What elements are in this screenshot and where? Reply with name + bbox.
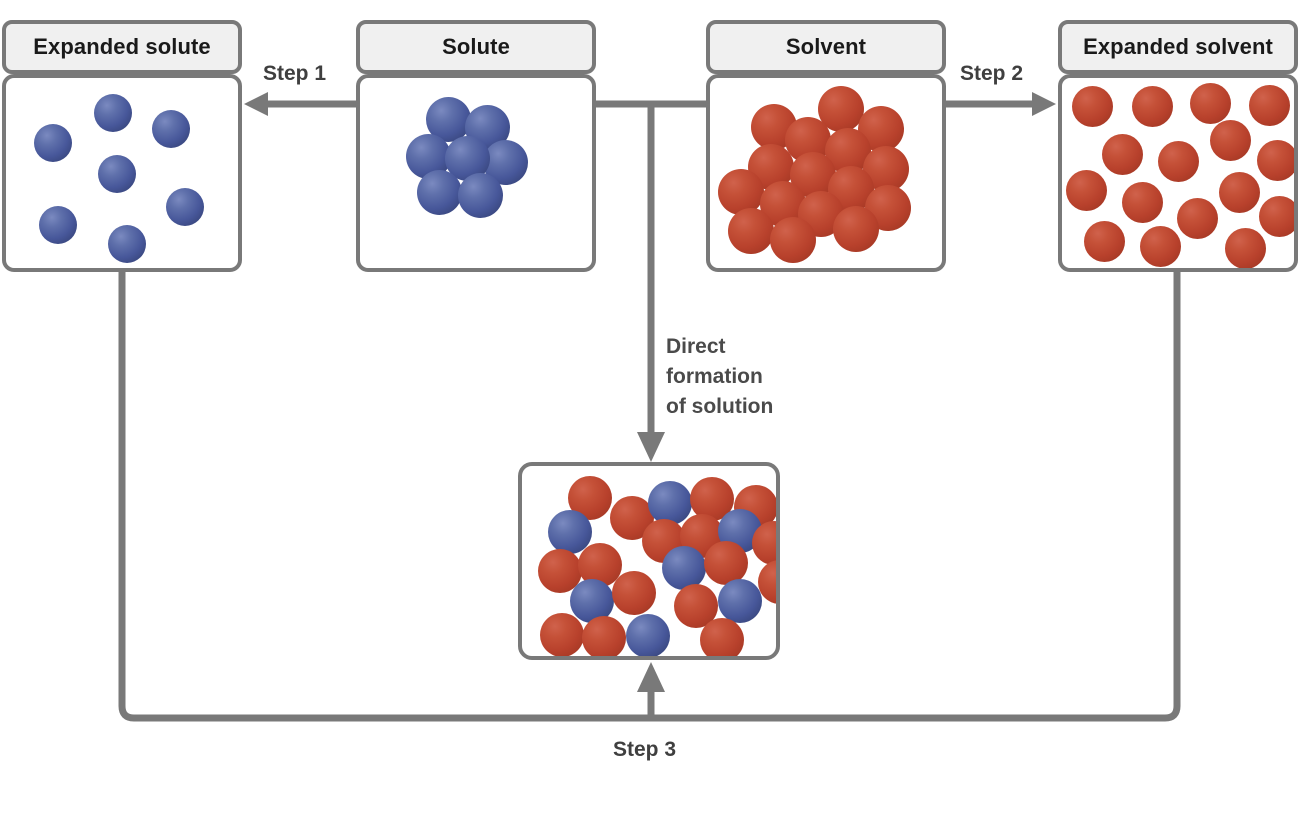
solute-particle — [152, 110, 190, 148]
box-title-expanded-solute: Expanded solute — [33, 34, 211, 60]
solute-particle — [417, 170, 462, 215]
box-solvent — [706, 74, 946, 272]
box-expanded-solvent — [1058, 74, 1298, 272]
particle-field-solution — [522, 466, 776, 656]
box-header-solute: Solute — [356, 20, 596, 74]
box-title-solvent: Solvent — [786, 34, 866, 60]
solvent-particle — [1190, 83, 1231, 124]
solvent-particle — [1072, 86, 1113, 127]
solvent-particle — [540, 613, 584, 656]
particle-field-solvent — [710, 78, 942, 268]
box-title-expanded-solvent: Expanded solvent — [1083, 34, 1273, 60]
solvent-particle — [1259, 196, 1294, 237]
solute-particle — [98, 155, 136, 193]
solvent-particle — [1219, 172, 1260, 213]
solvent-particle — [1122, 182, 1163, 223]
step1-arrow — [244, 92, 356, 116]
particle-field-expanded-solvent — [1062, 78, 1294, 268]
box-header-solvent: Solvent — [706, 20, 946, 74]
solvent-particle — [833, 206, 879, 252]
box-solution — [518, 462, 780, 660]
solvent-particle — [1249, 85, 1290, 126]
solute-particle — [108, 225, 146, 263]
solvent-particle — [770, 217, 816, 263]
box-solute — [356, 74, 596, 272]
solute-particle — [166, 188, 204, 226]
particle-field-solute — [360, 78, 592, 268]
solvent-particle — [1132, 86, 1173, 127]
solvent-particle — [1140, 226, 1181, 267]
solvent-particle — [1225, 228, 1266, 268]
solvent-particle — [612, 571, 656, 615]
solute-particle — [648, 481, 692, 525]
step1-label: Step 1 — [263, 62, 326, 86]
particle-field-expanded-solute — [6, 78, 238, 268]
solute-particle — [94, 94, 132, 132]
solvent-particle — [1257, 140, 1294, 181]
solution-formation-diagram: Expanded solute Solute Solvent — [0, 0, 1300, 836]
solute-particle — [34, 124, 72, 162]
solute-particle — [39, 206, 77, 244]
solvent-particle — [582, 616, 626, 656]
solvent-particle — [1084, 221, 1125, 262]
box-header-expanded-solute: Expanded solute — [2, 20, 242, 74]
box-expanded-solute — [2, 74, 242, 272]
step2-label: Step 2 — [960, 62, 1023, 86]
box-header-expanded-solvent: Expanded solvent — [1058, 20, 1298, 74]
solvent-particle — [1177, 198, 1218, 239]
solvent-particle — [728, 208, 774, 254]
direct-formation-label: Direct formation of solution — [666, 332, 773, 422]
solvent-particle — [1210, 120, 1251, 161]
step3-label: Step 3 — [613, 738, 676, 762]
solute-particle — [458, 173, 503, 218]
solvent-particle — [1158, 141, 1199, 182]
solvent-particle — [700, 618, 744, 656]
box-title-solute: Solute — [442, 34, 510, 60]
solute-particle — [626, 614, 670, 656]
solvent-particle — [1066, 170, 1107, 211]
solvent-particle — [1102, 134, 1143, 175]
solute-particle — [718, 579, 762, 623]
step2-arrow — [946, 92, 1056, 116]
